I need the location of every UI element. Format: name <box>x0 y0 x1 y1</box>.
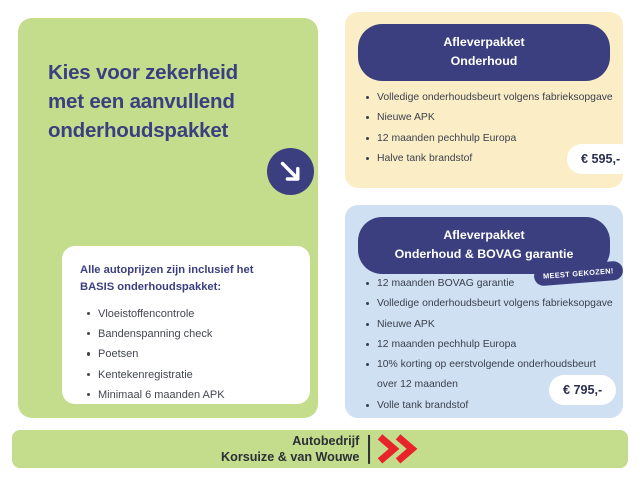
company-logo[interactable]: Autobedrijf Korsuize & van Wouwe <box>221 433 419 465</box>
list-item: Bandenspanning check <box>98 324 292 344</box>
price-badge-onderhoud: € 595,- <box>567 144 634 174</box>
basis-card-title-line-2: BASIS onderhoudspakket: <box>80 279 292 296</box>
package-title-line-1: Afleverpakket <box>364 33 604 52</box>
company-name-line-2: Korsuize & van Wouwe <box>221 449 359 465</box>
page-title-line-1: Kies voor zekerheid <box>48 58 284 87</box>
list-item-text: 10% korting op eerstvolgende onderhoudsb… <box>377 359 596 370</box>
footer-bar: Autobedrijf Korsuize & van Wouwe <box>12 430 628 468</box>
list-item: Vloeistoffencontrole <box>98 304 292 324</box>
list-item: Volledige onderhoudsbeurt volgens fabrie… <box>377 294 629 314</box>
double-chevron-right-icon <box>377 434 419 464</box>
company-name: Autobedrijf Korsuize & van Wouwe <box>221 433 368 465</box>
basis-feature-list: Vloeistoffencontrole Bandenspanning chec… <box>80 304 292 406</box>
page-title-line-2: met een aanvullend <box>48 87 284 116</box>
double-chevron-right-glyph <box>377 434 419 464</box>
package-title-line-2: Onderhoud <box>364 52 604 71</box>
list-item: Poetsen <box>98 344 292 364</box>
price-badge-onderhoud-bovag: € 795,- <box>549 375 616 405</box>
basis-card-title: Alle autoprijzen zijn inclusief het BASI… <box>80 262 292 296</box>
list-item: Volledige onderhoudsbeurt volgens fabrie… <box>377 88 629 108</box>
list-item: Kentekenregistratie <box>98 365 292 385</box>
package-title-line-1: Afleverpakket <box>364 226 604 245</box>
list-item: Nieuwe APK <box>377 315 629 335</box>
list-item: Minimaal 6 maanden APK <box>98 385 292 405</box>
logo-divider <box>368 435 370 464</box>
arrow-down-right-glyph <box>278 159 303 184</box>
arrow-down-right-icon[interactable] <box>267 148 314 195</box>
company-name-line-1: Autobedrijf <box>221 433 359 449</box>
basis-card-title-line-1: Alle autoprijzen zijn inclusief het <box>80 262 292 279</box>
list-item: Nieuwe APK <box>377 108 629 128</box>
package-title-onderhoud: Afleverpakket Onderhoud <box>358 24 610 81</box>
page-title: Kies voor zekerheid met een aanvullend o… <box>48 58 284 145</box>
package-title-line-2: Onderhoud & BOVAG garantie <box>364 245 604 264</box>
list-item: 12 maanden pechhulp Europa <box>377 335 629 355</box>
hero-panel: Kies voor zekerheid met een aanvullend o… <box>18 18 318 418</box>
basis-package-card: Alle autoprijzen zijn inclusief het BASI… <box>62 246 310 404</box>
page-title-line-3: onderhoudspakket <box>48 116 284 145</box>
